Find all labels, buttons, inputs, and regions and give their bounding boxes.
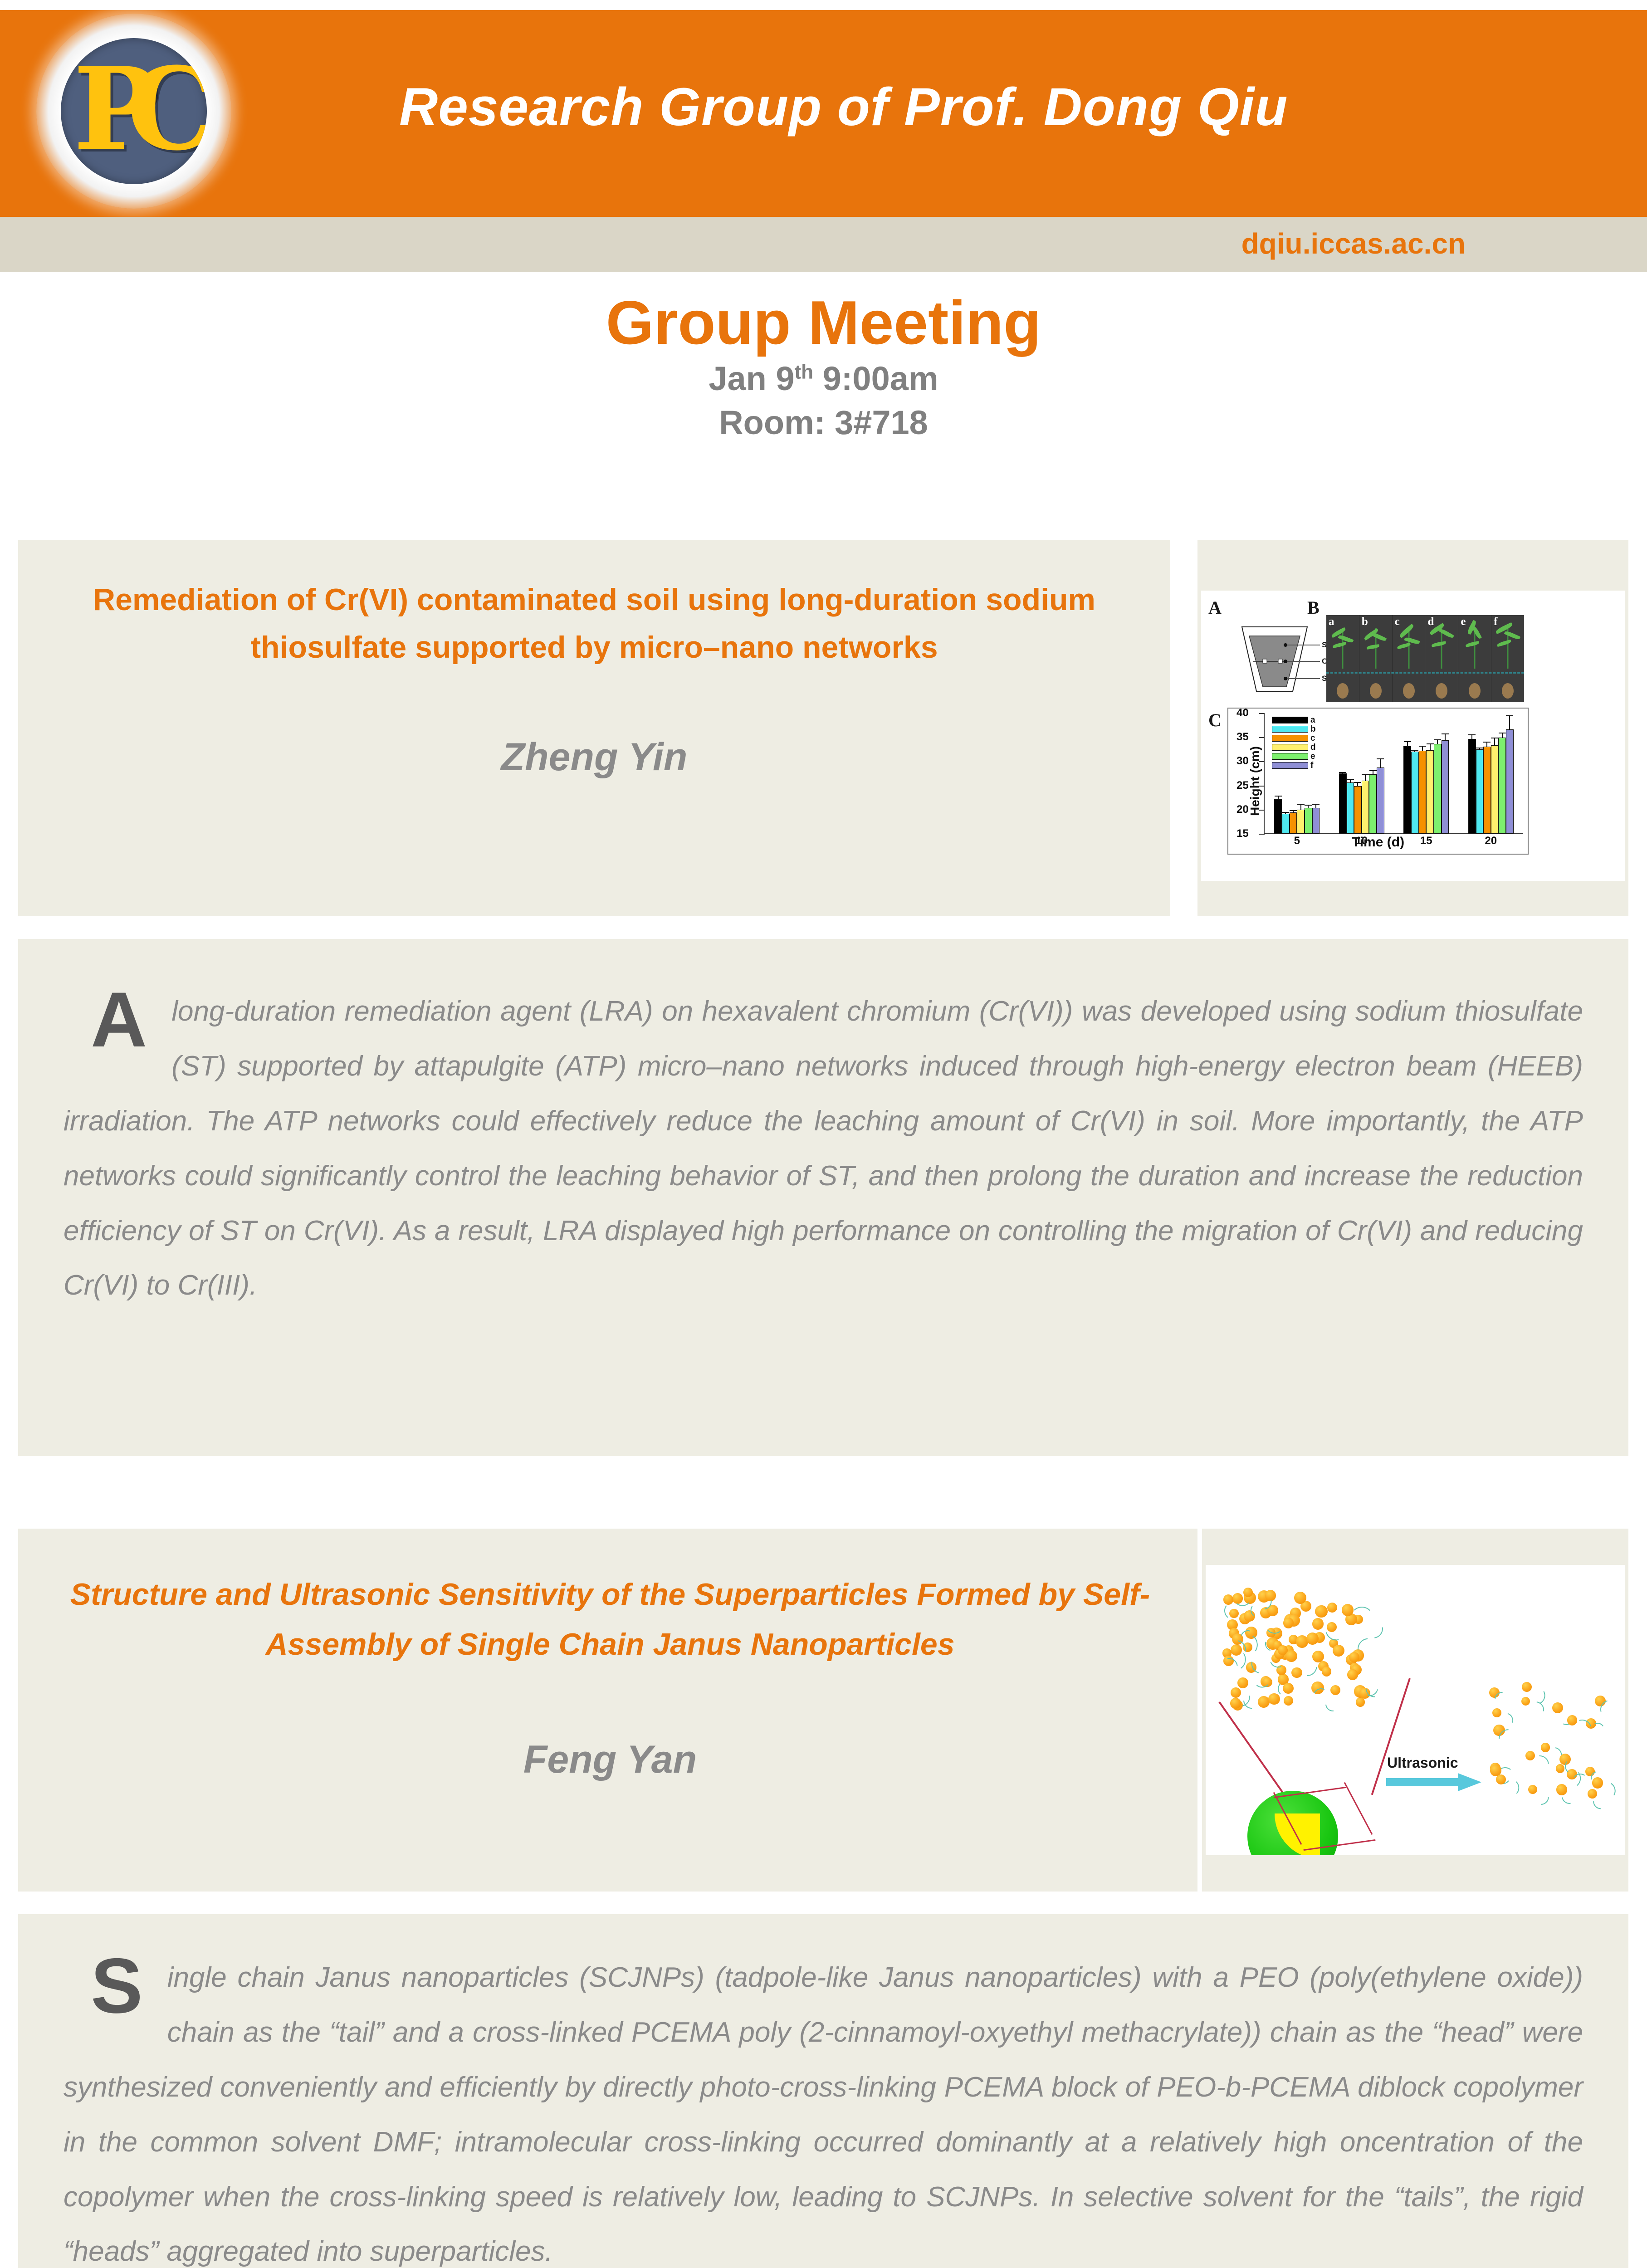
wedge-edge-right (1344, 1782, 1373, 1835)
chart-error-cap (1499, 733, 1506, 733)
talk-2-speaker: Feng Yan (27, 1737, 1193, 1782)
chart-legend-item: f (1272, 761, 1316, 770)
chart-error-bar (1380, 758, 1381, 768)
chart-error-bar (1445, 733, 1446, 741)
nanoparticle-dot (1322, 1667, 1331, 1676)
nanoparticle-dot (1327, 1603, 1337, 1613)
callout-line-3 (1287, 678, 1320, 679)
talk-2-abstract-body: ingle chain Janus nanoparticles (SCJNPs)… (64, 1962, 1583, 2267)
nanoparticle-dot (1237, 1677, 1248, 1688)
talk-1-header-card: Remediation of Cr(VI) contaminated soil … (18, 540, 1170, 916)
polymer-tail (1501, 1779, 1520, 1797)
chart-bar (1506, 729, 1514, 834)
chart-error-cap (1427, 743, 1434, 744)
chart-error-cap (1419, 746, 1426, 747)
chart-error-cap (1476, 748, 1483, 748)
talk-1-abstract-text: Along-duration remediation agent (LRA) o… (64, 984, 1583, 1313)
chart-legend-label: a (1310, 716, 1315, 724)
chart-legend-item: d (1272, 743, 1316, 752)
meeting-room: Room: 3#718 (0, 403, 1647, 442)
chart-y-tickmark (1259, 834, 1265, 835)
talk-2-dropcap: S (91, 1953, 143, 2019)
chart-error-cap (1282, 812, 1289, 813)
chart-bar (1426, 750, 1434, 834)
chart-bar (1468, 739, 1476, 834)
talk-2-header-card: Structure and Ultrasonic Sensitivity of … (18, 1529, 1197, 1892)
meeting-datetime: Jan 9th 9:00am (0, 359, 1647, 398)
callout-line-2 (1287, 661, 1320, 662)
chart-error-cap (1411, 750, 1418, 751)
chart-bar (1419, 751, 1427, 834)
ultrasonic-arrow-head (1458, 1773, 1481, 1791)
nanoparticle-dot (1284, 1696, 1293, 1706)
chart-error-cap (1347, 779, 1354, 780)
talk-2-figure-card: Ultrasonic (1202, 1529, 1628, 1892)
chart-error-cap (1312, 804, 1320, 805)
chart-legend-swatch (1272, 735, 1308, 742)
chart-bar (1411, 752, 1419, 834)
chart-error-cap (1491, 738, 1498, 738)
chart-bar-group (1403, 713, 1449, 834)
chart-legend-swatch (1272, 744, 1308, 751)
ultrasonic-arrow-shaft (1386, 1778, 1460, 1786)
chart-error-cap (1339, 772, 1346, 773)
nanoparticle-dot (1268, 1693, 1280, 1705)
chart-legend-item: c (1272, 734, 1316, 743)
chart-legend-swatch (1272, 726, 1308, 733)
chart-bar (1498, 738, 1506, 834)
chart-bar (1403, 746, 1411, 834)
figure-scjnp-ultrasonic: Ultrasonic (1206, 1565, 1625, 1855)
chart-bar (1491, 745, 1499, 834)
nanoparticle-dot (1312, 1618, 1324, 1630)
chart-legend-swatch (1272, 762, 1308, 769)
ultrasonic-label: Ultrasonic (1387, 1755, 1458, 1771)
figure-cr6-remediation: A Soil-Cr(VI)-LRA Corn seeds Soil-Cr(VI)… (1201, 591, 1625, 881)
chart-y-tick: 35 (1236, 731, 1249, 743)
nanoparticle-dot (1347, 1669, 1358, 1680)
chart-error-bar (1494, 738, 1495, 746)
chart-error-cap (1442, 733, 1449, 734)
seedling-photo: c (1393, 615, 1426, 702)
panel-label-a: A (1208, 597, 1222, 618)
chart-y-tick: 30 (1236, 755, 1249, 767)
chart-error-cap (1362, 774, 1369, 775)
seedling-label: a (1329, 616, 1334, 628)
chart-legend-label: b (1310, 725, 1316, 733)
talk-2-title: Structure and Ultrasonic Sensitivity of … (27, 1569, 1193, 1669)
chart-x-tick: 5 (1294, 835, 1300, 847)
chart-y-tick: 40 (1236, 707, 1249, 719)
chart-error-cap (1377, 758, 1384, 759)
chart-legend: abcdef (1272, 716, 1316, 770)
chart-y-tickmark (1259, 761, 1265, 762)
chart-legend-item: a (1272, 716, 1316, 724)
aggregated-nanoparticle-cluster (1219, 1588, 1383, 1724)
chart-x-tick: 20 (1485, 835, 1497, 847)
chart-y-tickmark (1259, 737, 1265, 738)
chart-error-cap (1483, 742, 1491, 743)
chart-legend-label: c (1310, 734, 1315, 743)
chart-bar (1483, 747, 1491, 834)
chart-legend-label: d (1310, 743, 1316, 752)
group-logo: PC (36, 14, 231, 209)
chart-bar (1354, 786, 1362, 834)
group-website-link[interactable]: dqiu.iccas.ac.cn (1241, 227, 1466, 260)
nanoparticle-dot (1285, 1650, 1297, 1662)
talk-1-abstract-body: long-duration remediation agent (LRA) on… (64, 996, 1583, 1301)
meeting-info: Group Meeting Jan 9th 9:00am Room: 3#718 (0, 290, 1647, 442)
nanoparticle-dot (1306, 1633, 1319, 1645)
panel-label-c: C (1208, 709, 1222, 731)
seedling-photo: d (1425, 615, 1458, 702)
chart-error-cap (1297, 804, 1305, 805)
chart-bar (1290, 812, 1297, 834)
talk-2-abstract-text: Single chain Janus nanoparticles (SCJNPs… (64, 1950, 1583, 2268)
meeting-date-ordinal: th (795, 361, 814, 383)
seedling-photo: f (1491, 615, 1524, 702)
chart-bar-group (1468, 713, 1514, 834)
talk-1-abstract-card: Along-duration remediation agent (LRA) o… (18, 939, 1628, 1456)
chart-bar (1362, 781, 1369, 834)
chart-error-cap (1434, 739, 1441, 740)
chart-bar (1305, 808, 1312, 834)
chart-y-tickmark (1259, 713, 1265, 714)
chart-legend-label: f (1310, 761, 1313, 770)
chart-error-cap (1305, 805, 1312, 806)
polymer-tail (1277, 1681, 1293, 1696)
seedling-photo: a (1326, 615, 1359, 702)
logo-monogram: PC (73, 52, 186, 166)
panel-label-b: B (1307, 597, 1320, 618)
corn-seedling-photos: a b c (1326, 615, 1524, 702)
chart-x-axis-label: Time (d) (1352, 835, 1404, 850)
nanoparticle-dot (1333, 1645, 1344, 1657)
chart-error-cap (1275, 796, 1282, 797)
seedling-label: c (1395, 616, 1400, 628)
callout-line-1 (1287, 645, 1320, 645)
chart-error-cap (1290, 810, 1297, 811)
chart-error-cap (1506, 715, 1513, 716)
chart-legend-swatch (1272, 717, 1308, 723)
chart-legend-item: e (1272, 752, 1316, 761)
chart-bar-group (1339, 713, 1384, 834)
nanoparticle-dot (1356, 1697, 1365, 1706)
nanoparticle-dot (1330, 1685, 1340, 1695)
seedling-label: f (1494, 616, 1497, 628)
chart-bar (1369, 774, 1377, 834)
chart-legend-swatch (1272, 753, 1308, 760)
meeting-date-prefix: Jan 9 (709, 360, 794, 397)
chart-y-axis-label: Height (cm) (1248, 746, 1262, 816)
meeting-time-value: 9:00am (813, 360, 938, 397)
dispersed-nanoparticle-cluster (1487, 1662, 1623, 1808)
chart-error-bar (1365, 774, 1366, 781)
chart-error-cap (1369, 770, 1377, 771)
chart-y-tick: 20 (1236, 803, 1249, 816)
chart-y-tick: 25 (1236, 779, 1249, 792)
chart-bar (1476, 749, 1484, 834)
polymer-tail (1350, 1606, 1373, 1630)
seedling-photo: e (1458, 615, 1491, 702)
logo-disc: PC (61, 38, 207, 184)
seedling-photo: b (1359, 615, 1393, 702)
chart-y-tickmark (1259, 786, 1265, 787)
meeting-title: Group Meeting (0, 290, 1647, 355)
chart-bar (1377, 767, 1384, 834)
chart-bar (1312, 808, 1320, 834)
height-vs-time-bar-chart: Height (cm) 152025303540 5101520 Time (d… (1227, 708, 1529, 855)
chart-y-tick: 15 (1236, 827, 1249, 840)
talk-2-abstract-card: Single chain Janus nanoparticles (SCJNPs… (18, 1914, 1628, 2268)
chart-y-tickmark (1259, 810, 1265, 811)
seedling-label: d (1427, 616, 1434, 628)
soil-line-marker (1326, 672, 1524, 674)
nanoparticle-dot (1283, 1618, 1294, 1628)
chart-bar (1347, 782, 1354, 834)
chart-bar (1274, 799, 1282, 834)
talk-1-title: Remediation of Cr(VI) contaminated soil … (45, 576, 1143, 672)
chart-bar (1339, 773, 1347, 834)
chart-legend-label: e (1310, 752, 1315, 761)
chart-error-cap (1354, 782, 1361, 783)
beaker-diagram-icon (1229, 623, 1320, 696)
nanoparticle-dot (1315, 1605, 1328, 1618)
chart-error-bar (1430, 743, 1431, 751)
chart-bar (1282, 814, 1290, 834)
talk-1-speaker: Zheng Yin (45, 735, 1143, 780)
chart-error-bar (1509, 715, 1510, 730)
seedling-label: e (1461, 616, 1466, 628)
page-title: Research Group of Prof. Dong Qiu (399, 76, 1397, 138)
chart-error-cap (1404, 741, 1411, 742)
chart-error-bar (1300, 804, 1301, 810)
chart-bar (1434, 744, 1442, 834)
chart-bar (1297, 810, 1305, 834)
chart-error-cap (1468, 734, 1476, 735)
talk-1-figure-card: A Soil-Cr(VI)-LRA Corn seeds Soil-Cr(VI)… (1197, 540, 1628, 916)
talk-1-dropcap: A (91, 987, 147, 1052)
chart-legend-item: b (1272, 725, 1316, 733)
seedling-label: b (1362, 616, 1368, 628)
chart-x-tick: 15 (1420, 835, 1432, 847)
chart-bar (1442, 740, 1449, 834)
